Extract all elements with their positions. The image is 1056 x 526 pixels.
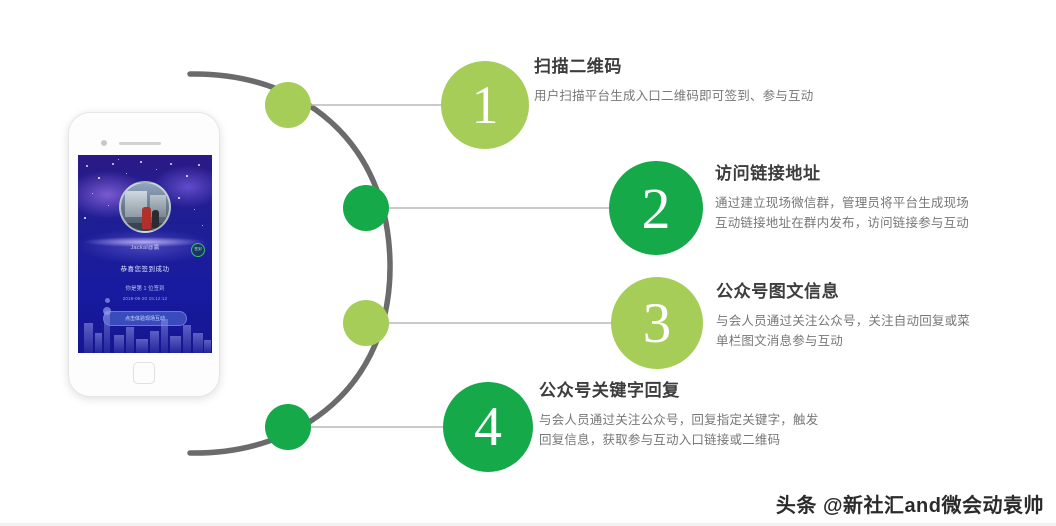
city-skyline-decoration: [78, 291, 212, 353]
watermark-handle: @新社汇and微会动袁帅: [823, 495, 1044, 517]
phone-home-button[interactable]: [133, 362, 155, 384]
step-title-1: 扫描二维码: [534, 52, 813, 77]
phone-mockup: 签到 Jackal@赢 恭喜您签到成功 你是第 1 位签到 2018-05-20…: [68, 112, 220, 397]
step-desc-2: 通过建立现场微信群，管理员将平台生成现场 互动链接地址在群内发布，访问链接参与互…: [715, 193, 969, 234]
step-title-2: 访问链接地址: [715, 159, 969, 184]
arc-dot-3: [343, 300, 389, 346]
step-text-2: 访问链接地址 通过建立现场微信群，管理员将平台生成现场 互动链接地址在群内发布，…: [715, 159, 969, 234]
phone-earpiece: [119, 142, 161, 145]
step-text-4: 公众号关键字回复 与会人员通过关注公众号，回复指定关键字，触发 回复信息，获取参…: [539, 376, 818, 451]
watermark-prefix: 头条: [776, 495, 817, 517]
avatar: [119, 181, 171, 233]
step-desc-4: 与会人员通过关注公众号，回复指定关键字，触发 回复信息，获取参与互动入口链接或二…: [539, 410, 818, 451]
infographic-canvas: 签到 Jackal@赢 恭喜您签到成功 你是第 1 位签到 2018-05-20…: [0, 0, 1056, 526]
screen-success-text: 恭喜您签到成功: [78, 263, 212, 273]
step-number-2: 2: [642, 175, 671, 242]
step-circle-3[interactable]: 3: [611, 277, 703, 369]
step-text-1: 扫描二维码 用户扫描平台生成入口二维码即可签到、参与互动: [534, 52, 813, 106]
step-circle-1[interactable]: 1: [441, 61, 529, 149]
step-text-3: 公众号图文信息 与会人员通过关注公众号，关注自动回复或菜 单栏图文消息参与互动: [716, 277, 970, 352]
avatar-person: [142, 207, 151, 229]
step-circle-4[interactable]: 4: [443, 382, 533, 472]
main-arc-path: [190, 74, 390, 453]
step-number-1: 1: [472, 74, 499, 136]
step-title-3: 公众号图文信息: [716, 277, 970, 302]
step-number-3: 3: [643, 291, 672, 356]
phone-screen: 签到 Jackal@赢 恭喜您签到成功 你是第 1 位签到 2018-05-20…: [78, 155, 212, 353]
screen-user-name: Jackal@赢: [78, 243, 212, 251]
phone-camera-icon: [101, 140, 107, 146]
arc-dot-2: [343, 185, 389, 231]
step-title-4: 公众号关键字回复: [539, 376, 818, 401]
avatar-person-2: [152, 210, 159, 228]
step-desc-1: 用户扫描平台生成入口二维码即可签到、参与互动: [534, 86, 813, 106]
step-number-4: 4: [474, 395, 502, 459]
arc-dot-4: [265, 404, 311, 450]
watermark: 头条 @新社汇and微会动袁帅: [776, 489, 1044, 518]
step-desc-3: 与会人员通过关注公众号，关注自动回复或菜 单栏图文消息参与互动: [716, 311, 970, 352]
arc-dot-1: [265, 82, 311, 128]
step-circle-2[interactable]: 2: [609, 161, 703, 255]
